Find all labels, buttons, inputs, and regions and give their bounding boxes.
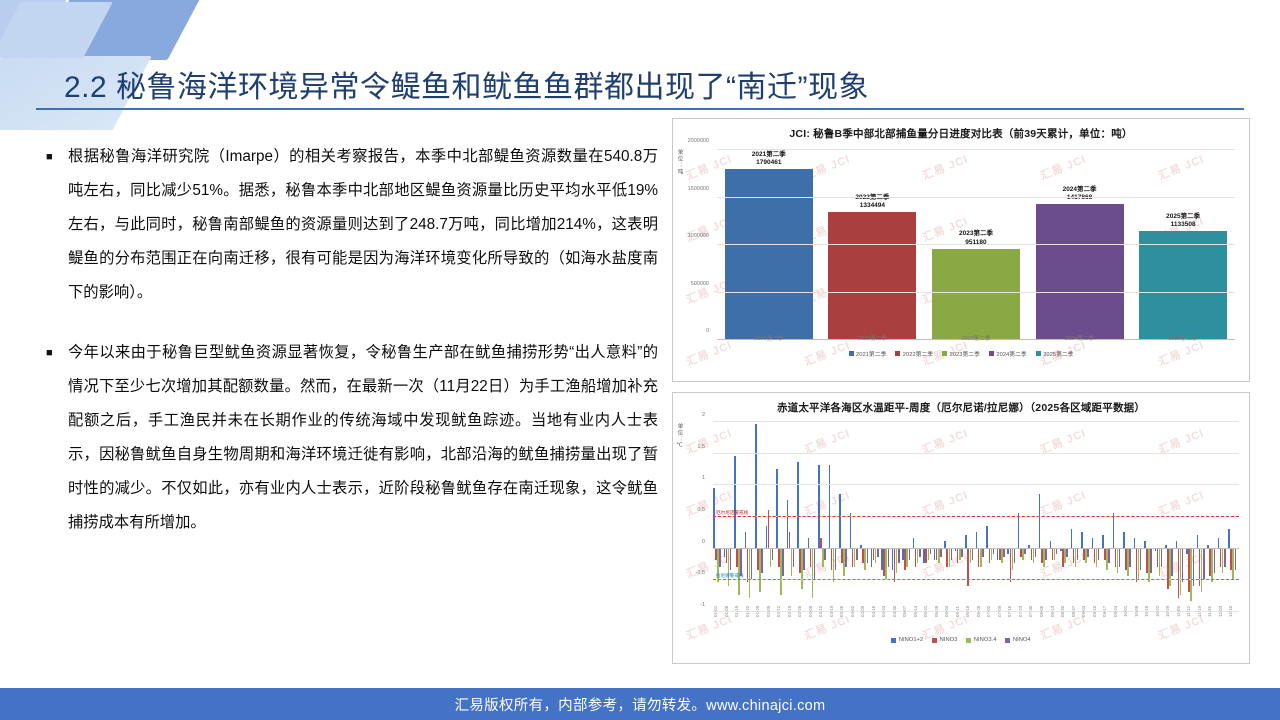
bar [1108, 548, 1110, 564]
bar [734, 456, 736, 548]
gridline [713, 484, 1239, 485]
y-tick-label: 1000000 [688, 233, 709, 239]
body-text-column: ■ 根据秘鲁海洋研究院（Imarpe）的相关考察报告，本季中北部鳀鱼资源数量在5… [46, 140, 658, 566]
x-tick-label: 11-19 [1197, 606, 1208, 632]
gridline [713, 548, 1239, 549]
legend-swatch [966, 638, 971, 643]
x-tick-label: 08-20 [1060, 606, 1071, 632]
chart2-legend: NINO1+2NINO3NINO3.4NINO4 [673, 637, 1249, 643]
bar [814, 548, 816, 580]
x-tick-label: 02-19 [787, 606, 798, 632]
x-tick-label: 07-09 [997, 606, 1008, 632]
y-tick-label: 500000 [691, 281, 709, 287]
legend-label: 2021第二季 [856, 349, 886, 358]
bar [845, 548, 847, 567]
chart2-plot-area: 汇易 JCI汇易 JCI汇易 JCI汇易 JCI汇易 JCI汇易 JCI汇易 J… [673, 415, 1249, 649]
bar [820, 538, 822, 548]
x-tick-label: 2021第二季 [725, 334, 813, 342]
x-tick-label: 03-05 [808, 606, 819, 632]
x-tick-label: 08-06 [1039, 606, 1050, 632]
paragraph-1: ■ 根据秘鲁海洋研究院（Imarpe）的相关考察报告，本季中北部鳀鱼资源数量在5… [46, 140, 658, 310]
chart1-legend: 2021第二季2022第二季2023第二季2024第二季2025第二季 [673, 349, 1249, 358]
gridline [717, 292, 1235, 293]
chart1-bars-region: 2021第二季17904612022第二季13344942023第二季95118… [717, 149, 1235, 339]
bar [1224, 548, 1226, 567]
x-tick-label: 07-16 [1007, 606, 1018, 632]
bar [1150, 548, 1152, 573]
bar-data-label: 2025第二季1133508 [1166, 213, 1200, 229]
paragraph-2: ■ 今年以来由于秘鲁巨型鱿鱼资源显著恢复，令秘鲁生产部在鱿鱼捕捞形势“出人意料”… [46, 336, 658, 540]
x-tick-label: 04-23 [881, 606, 892, 632]
bar [856, 548, 858, 561]
bar [745, 532, 747, 548]
bar [1140, 548, 1142, 570]
x-tick-label: 06-04 [944, 606, 955, 632]
bar [740, 548, 742, 577]
bar [1134, 538, 1136, 548]
chart-card-fishing-progress: JCI: 秘鲁B季中部北部捕鱼量分日进度对比表（前39天累计，单位：吨） 汇易 … [672, 118, 1250, 382]
bar [1014, 548, 1016, 564]
y-tick-label: -1 [700, 602, 705, 608]
bar [808, 538, 810, 548]
gridline [713, 421, 1239, 422]
x-tick-label: 05-28 [934, 606, 945, 632]
gridline [717, 197, 1235, 198]
footer-bar: 汇易版权所有，内部参考，请勿转发。www.chinajci.com [0, 688, 1280, 720]
chart2-x-axis-labels: 01-0101-0801-1501-2201-2902-0502-1202-19… [713, 606, 1239, 632]
x-tick-label: 09-03 [1081, 606, 1092, 632]
x-tick-label: 05-07 [902, 606, 913, 632]
bullet-marker: ■ [46, 140, 68, 310]
x-tick-label: 01-22 [745, 606, 756, 632]
bar [1218, 538, 1220, 548]
legend-label: 2025第二季 [1043, 349, 1073, 358]
chart1-x-axis-labels: 2021第二季2022第二季2023第二季2024第二季2025第二季 [717, 334, 1235, 342]
y-tick-label: 0 [706, 328, 709, 334]
bar [898, 548, 900, 564]
gridline [717, 244, 1235, 245]
paragraph-text: 今年以来由于秘鲁巨型鱿鱼资源显著恢复，令秘鲁生产部在鱿鱼捕捞形势“出人意料”的情… [68, 336, 658, 540]
bar [1182, 548, 1184, 583]
y-tick-label: 2 [702, 412, 705, 418]
x-tick-label: 06-25 [976, 606, 987, 632]
bar [888, 548, 890, 567]
bar [772, 548, 774, 561]
bar [986, 526, 988, 548]
x-tick-label: 09-10 [1092, 606, 1103, 632]
y-tick-label: 2000000 [688, 138, 709, 144]
x-tick-label: 10-08 [1134, 606, 1145, 632]
x-tick-label: 06-11 [955, 606, 966, 632]
legend-item: NINO4 [1005, 637, 1030, 643]
legend-label: NINO4 [1013, 637, 1031, 643]
bar [793, 548, 795, 567]
x-tick-label: 05-14 [913, 606, 924, 632]
bar [877, 548, 879, 558]
x-tick-label: 09-17 [1102, 606, 1113, 632]
legend-swatch [942, 351, 947, 356]
paragraph-text: 根据秘鲁海洋研究院（Imarpe）的相关考察报告，本季中北部鳀鱼资源数量在540… [68, 140, 658, 310]
legend-item: 2021第二季 [849, 349, 887, 358]
bar [1035, 548, 1037, 558]
bar [951, 548, 953, 561]
bar [751, 548, 753, 580]
bar [909, 548, 911, 561]
x-tick-label: 04-09 [860, 606, 871, 632]
bar [1087, 548, 1089, 558]
bar [932, 249, 1020, 339]
legend-label: NINO3.4 [974, 637, 997, 643]
legend-label: 2024第二季 [996, 349, 1026, 358]
threshold-label: 厄尔尼诺警戒线 [716, 510, 748, 516]
bar [719, 548, 721, 567]
bar [850, 513, 852, 548]
bar [776, 469, 778, 548]
bar [867, 548, 869, 564]
x-tick-label: 08-27 [1071, 606, 1082, 632]
x-tick-label: 02-12 [776, 606, 787, 632]
x-tick-label: 01-15 [734, 606, 745, 632]
bar [829, 465, 831, 547]
legend-item: 2025第二季 [1036, 349, 1074, 358]
bar [1171, 548, 1173, 577]
x-tick-label: 08-13 [1050, 606, 1061, 632]
legend-item: 2024第二季 [989, 349, 1027, 358]
bar [803, 548, 805, 570]
bar [913, 538, 915, 548]
bar [919, 548, 921, 558]
x-tick-label: 2023第二季 [932, 334, 1020, 342]
legend-swatch [891, 638, 896, 643]
bar [1129, 548, 1131, 567]
legend-swatch [1005, 638, 1010, 643]
legend-swatch [1036, 351, 1041, 356]
x-tick-label: 10-01 [1123, 606, 1134, 632]
x-tick-label: 04-16 [871, 606, 882, 632]
y-tick-label: 0.5 [697, 507, 705, 513]
x-tick-label: 06-18 [965, 606, 976, 632]
x-tick-label: 03-12 [818, 606, 829, 632]
bar [1003, 548, 1005, 558]
legend-item: NINO3 [932, 637, 957, 643]
bar [818, 465, 820, 547]
bar [1161, 548, 1163, 567]
legend-item: NINO1+2 [891, 637, 923, 643]
bar-data-label: 2024第二季1417868 [1063, 186, 1097, 202]
bar [1197, 535, 1199, 548]
page-title: 2.2 秘鲁海洋环境异常令鳀鱼和鱿鱼鱼群都出现了“南迁”现象 [64, 62, 869, 106]
bar-data-label: 2021第二季1790461 [752, 151, 786, 167]
bar [1036, 204, 1124, 339]
x-tick-label: 2025第二季 [1139, 334, 1227, 342]
bar [1119, 548, 1121, 567]
threshold-line [713, 579, 1239, 580]
x-tick-label: 12-10 [1228, 606, 1239, 632]
bullet-marker: ■ [46, 336, 68, 540]
chart1-y-axis: 2000000150000010000005000000 [673, 141, 713, 331]
x-tick-label: 02-05 [766, 606, 777, 632]
legend-label: NINO3 [940, 637, 958, 643]
bar [1123, 532, 1125, 548]
x-tick-label: 01-01 [713, 606, 724, 632]
chart2-y-axis: 21.510.50-0.5-1 [673, 415, 709, 605]
legend-label: NINO1+2 [899, 637, 923, 643]
bar [1039, 494, 1041, 548]
x-tick-label: 10-29 [1165, 606, 1176, 632]
x-tick-label: 12-03 [1218, 606, 1229, 632]
x-tick-label: 03-26 [839, 606, 850, 632]
bar [961, 548, 963, 558]
gridline [717, 149, 1235, 150]
y-tick-label: 1500000 [688, 186, 709, 192]
threshold-line [713, 516, 1239, 517]
bar [1203, 548, 1205, 580]
bar [725, 169, 813, 339]
chart2-title: 赤道太平洋各海区水温距平-周度（厄尔尼诺/拉尼娜）（2025各区域距平数据） [673, 393, 1249, 415]
y-tick-label: 1 [702, 475, 705, 481]
bar [1045, 548, 1047, 561]
y-tick-label: 1.5 [697, 444, 705, 450]
x-tick-label: 11-12 [1186, 606, 1197, 632]
bar [761, 548, 763, 573]
bar [965, 535, 967, 548]
chart-card-sst-anomaly: 赤道太平洋各海区水温距平-周度（厄尔尼诺/拉尼娜）（2025各区域距平数据） 汇… [672, 392, 1250, 664]
bar [1098, 548, 1100, 561]
bar [1018, 513, 1020, 548]
title-divider [36, 108, 1244, 110]
x-tick-label: 10-15 [1144, 606, 1155, 632]
x-tick-label: 10-22 [1155, 606, 1166, 632]
legend-item: 2022第二季 [895, 349, 933, 358]
bar [1235, 548, 1237, 570]
chart1-title: JCI: 秘鲁B季中部北部捕鱼量分日进度对比表（前39天累计，单位：吨） [673, 119, 1249, 141]
x-tick-label: 07-02 [986, 606, 997, 632]
threshold-label: 拉尼娜警戒线 [716, 573, 744, 579]
bar [755, 424, 757, 548]
x-tick-label: 07-30 [1028, 606, 1039, 632]
chart1-plot-area: 汇易 JCI汇易 JCI汇易 JCI汇易 JCI汇易 JCI汇易 JCI汇易 J… [673, 141, 1249, 367]
bar [789, 532, 791, 548]
bar [730, 548, 732, 570]
bar [1228, 529, 1230, 548]
legend-label: 2023第二季 [950, 349, 980, 358]
slide: 2.2 秘鲁海洋环境异常令鳀鱼和鱿鱼鱼群都出现了“南迁”现象 ■ 根据秘鲁海洋研… [0, 0, 1280, 720]
bar [797, 462, 799, 548]
bar [982, 548, 984, 558]
bar [835, 548, 837, 570]
legend-item: NINO3.4 [966, 637, 996, 643]
x-tick-label: 2022第二季 [828, 334, 916, 342]
gridline [713, 453, 1239, 454]
legend-swatch [989, 351, 994, 356]
x-tick-label: 01-29 [755, 606, 766, 632]
x-tick-label: 03-19 [829, 606, 840, 632]
bar [940, 548, 942, 558]
x-tick-label: 11-26 [1207, 606, 1218, 632]
bar [1214, 548, 1216, 573]
y-tick-label: 0 [702, 539, 705, 545]
bar [828, 212, 916, 339]
bar [1077, 548, 1079, 561]
bar [1081, 532, 1083, 548]
bar [1113, 513, 1115, 548]
y-tick-label: -0.5 [696, 570, 705, 576]
bar [824, 548, 826, 561]
x-tick-label: 04-30 [892, 606, 903, 632]
x-tick-label: 11-05 [1176, 606, 1187, 632]
bar [1092, 538, 1094, 548]
x-tick-label: 05-21 [923, 606, 934, 632]
x-tick-label: 09-24 [1113, 606, 1124, 632]
bar [1139, 231, 1227, 339]
bar [782, 548, 784, 577]
bar [1102, 535, 1104, 548]
x-tick-label: 04-02 [850, 606, 861, 632]
x-tick-label: 2024第二季 [1036, 334, 1124, 342]
x-tick-label: 01-08 [724, 606, 735, 632]
bar [1071, 529, 1073, 548]
legend-swatch [849, 351, 854, 356]
bar [972, 548, 974, 561]
legend-swatch [895, 351, 900, 356]
bar [1066, 548, 1068, 558]
x-tick-label: 07-23 [1018, 606, 1029, 632]
bar [713, 488, 715, 548]
bar [976, 532, 978, 548]
legend-label: 2022第二季 [903, 349, 933, 358]
x-tick-label: 02-26 [797, 606, 808, 632]
legend-item: 2023第二季 [942, 349, 980, 358]
chart2-bars-region: 厄尔尼诺警戒线拉尼娜警戒线 [713, 421, 1239, 611]
legend-swatch [932, 638, 937, 643]
bar [839, 494, 841, 548]
